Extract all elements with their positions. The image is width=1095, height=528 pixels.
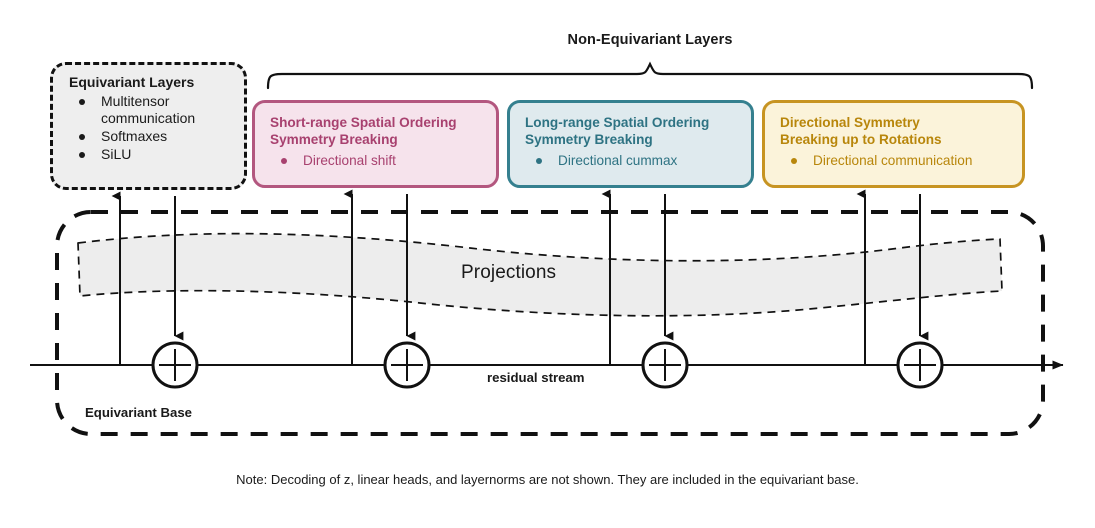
list-item: Directional cummax [525,152,739,169]
equivariant-base-label: Equivariant Base [85,405,192,420]
card-title: Short-range Spatial Ordering Symmetry Br… [270,114,484,148]
non-equivariant-brace [268,64,1032,88]
card-title-line-2: Breaking up to Rotations [780,132,942,147]
equivariant-layer-item-2: SiLU [101,146,131,162]
projections-label: Projections [461,262,556,284]
bullet-icon [536,158,542,164]
equivariant-layer-item-1: Softmaxes [101,128,167,144]
list-item: Softmaxes [65,128,234,145]
residual-adder-3 [643,343,687,387]
card-title-line-1: Directional Symmetry [780,115,920,130]
residual-adder-1 [153,343,197,387]
card-long-range-spatial-ordering: Long-range Spatial Ordering Symmetry Bre… [507,100,754,188]
figure-footnote: Note: Decoding of z, linear heads, and l… [0,472,1095,487]
bullet-icon [79,99,85,105]
diagram-canvas: Non-Equivariant Layers Equivariant Layer… [0,0,1095,528]
list-item: Multitensor communication [65,93,234,127]
card-title-line-2: Symmetry Breaking [270,132,398,147]
card-title: Directional Symmetry Breaking up to Rota… [780,114,1010,148]
card-item-0: Directional shift [303,153,396,168]
equivariant-layers-list: Multitensor communication Softmaxes SiLU [65,93,234,163]
list-item: Directional communication [780,152,1010,169]
card-item-list: Directional cummax [525,152,739,169]
bullet-icon [79,134,85,140]
bullet-icon [79,152,85,158]
residual-stream-label: residual stream [487,370,585,385]
card-item-list: Directional communication [780,152,1010,169]
list-item: SiLU [65,146,234,163]
bullet-icon [281,158,287,164]
equivariant-layer-item-0: Multitensor communication [101,93,195,126]
bullet-icon [791,158,797,164]
card-title: Long-range Spatial Ordering Symmetry Bre… [525,114,739,148]
equivariant-layers-title: Equivariant Layers [69,74,234,90]
card-title-line-1: Short-range Spatial Ordering [270,115,457,130]
residual-adder-2 [385,343,429,387]
non-equivariant-layers-title: Non-Equivariant Layers [260,32,1040,48]
card-title-line-2: Symmetry Breaking [525,132,653,147]
card-item-0: Directional communication [813,153,972,168]
residual-adder-4 [898,343,942,387]
card-item-0: Directional cummax [558,153,677,168]
card-item-list: Directional shift [270,152,484,169]
card-short-range-spatial-ordering: Short-range Spatial Ordering Symmetry Br… [252,100,499,188]
card-title-line-1: Long-range Spatial Ordering [525,115,709,130]
list-item: Directional shift [270,152,484,169]
equivariant-layers-box: Equivariant Layers Multitensor communica… [50,62,247,190]
card-directional-symmetry-breaking: Directional Symmetry Breaking up to Rota… [762,100,1025,188]
